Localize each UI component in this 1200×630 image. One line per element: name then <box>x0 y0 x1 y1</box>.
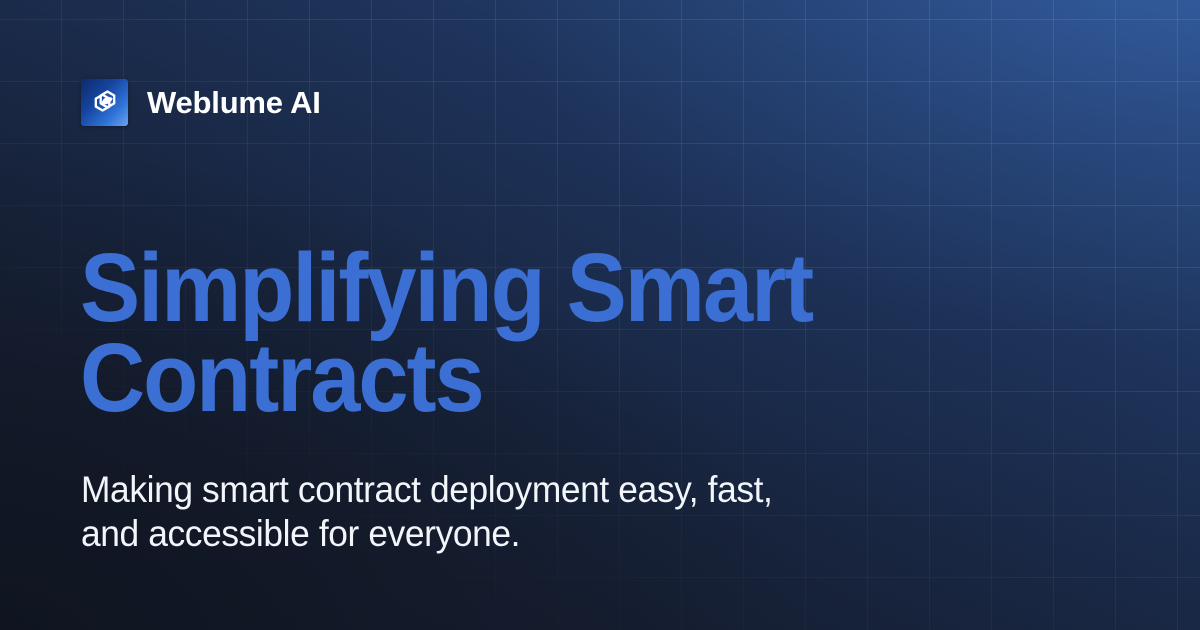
page-subtitle: Making smart contract deployment easy, f… <box>81 468 902 555</box>
weblume-logo-icon <box>81 79 128 126</box>
page-title: Simplifying Smart Contracts <box>80 243 917 423</box>
brand-name: Weblume AI <box>147 87 321 118</box>
og-card: Weblume AI Simplifying Smart Contracts M… <box>0 0 1200 630</box>
brand-lockup: Weblume AI <box>81 79 321 126</box>
card-content: Weblume AI Simplifying Smart Contracts M… <box>0 0 1200 630</box>
